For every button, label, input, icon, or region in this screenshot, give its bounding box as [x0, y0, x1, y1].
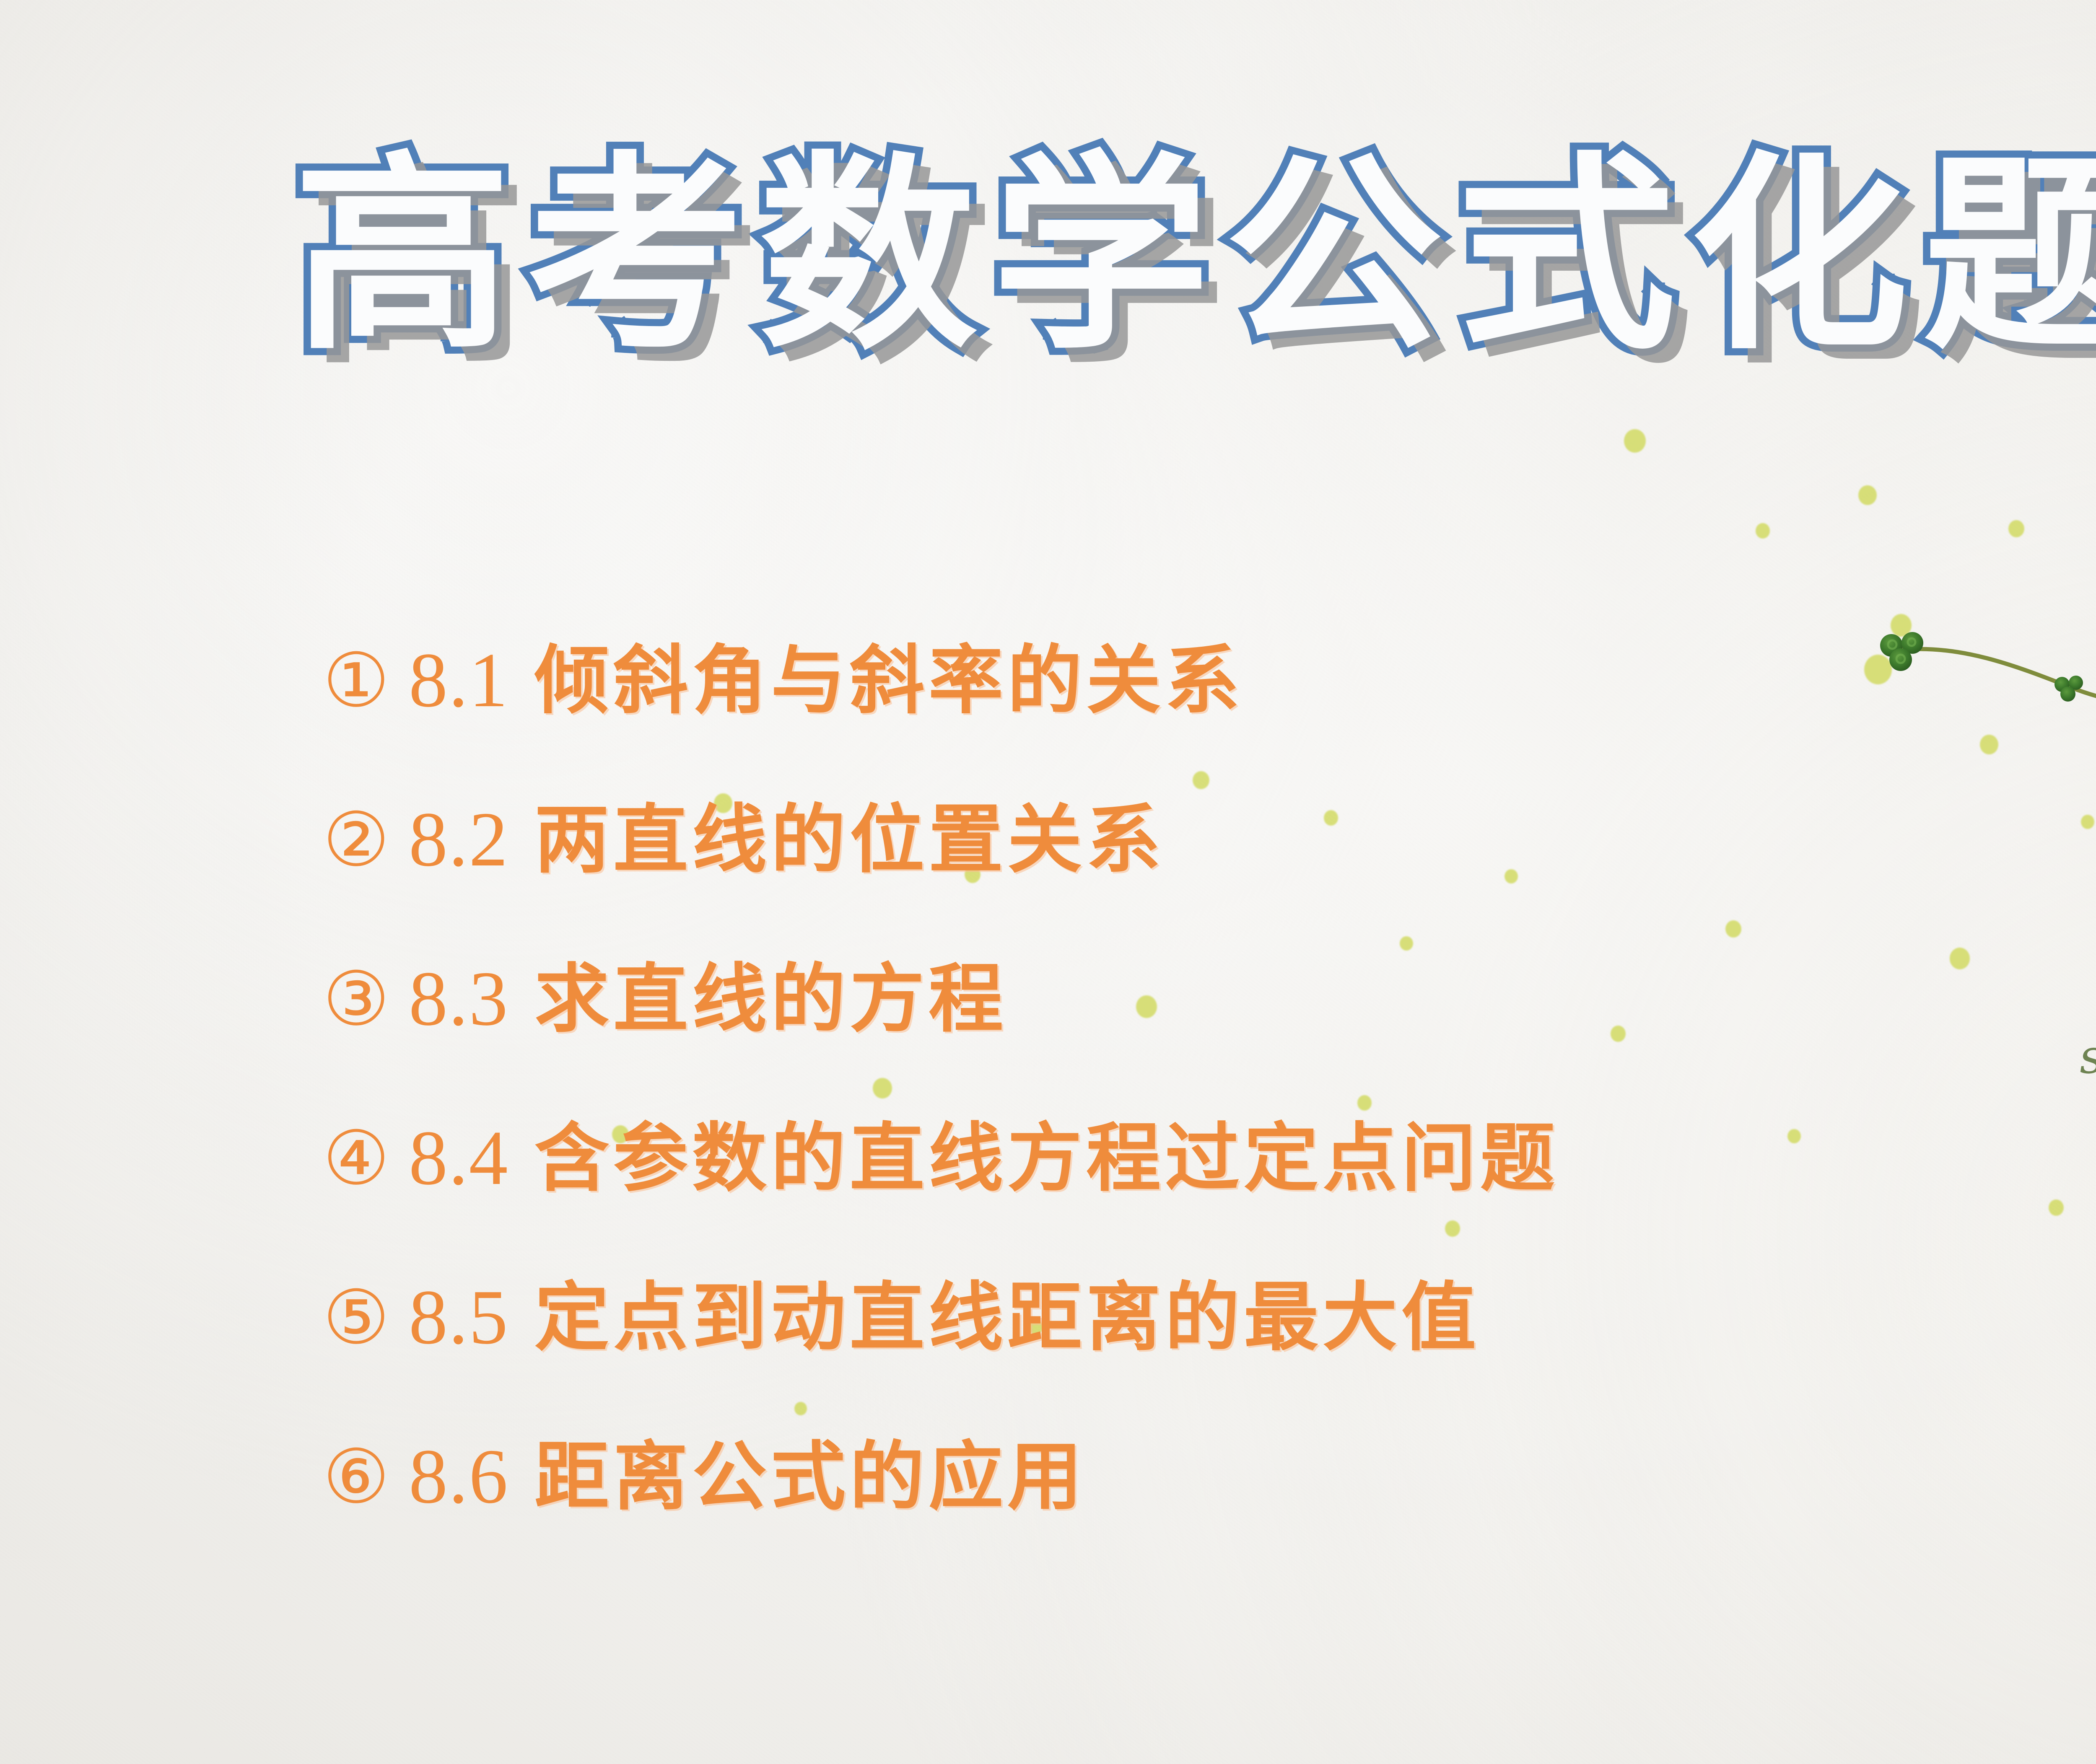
list-marker-icon: ⑤	[323, 1280, 409, 1355]
list-item-label: 两直线的位置关系	[534, 803, 1165, 877]
list-item-number: 8.1	[409, 641, 534, 719]
list-item[interactable]: ⑥ 8.6 距离公式的应用	[323, 1438, 2096, 1597]
list-item[interactable]: ③ 8.3 求直线的方程	[323, 960, 2096, 1119]
list-marker-icon: ⑥	[323, 1440, 409, 1514]
list-item-label: 含参数的直线方程过定点问题	[534, 1121, 1559, 1196]
outline-list: ① 8.1 倾斜角与斜率的关系 ② 8.2 两直线的位置关系 ③ 8.3 求直线…	[323, 641, 2096, 1597]
list-item[interactable]: ② 8.2 两直线的位置关系	[323, 800, 2096, 960]
list-item-number: 8.5	[409, 1278, 534, 1356]
list-marker-icon: ③	[323, 962, 409, 1036]
title-text: 高考数学公式化题型	[293, 126, 2096, 386]
decorative-dot	[1756, 523, 1770, 539]
list-item[interactable]: ① 8.1 倾斜角与斜率的关系	[323, 641, 2096, 800]
list-item-number: 8.2	[409, 800, 534, 878]
slide-title: 高考数学公式化题型	[293, 126, 2096, 411]
list-marker-icon: ①	[323, 643, 409, 718]
list-item-number: 8.4	[409, 1119, 534, 1197]
list-item[interactable]: ④ 8.4 含参数的直线方程过定点问题	[323, 1119, 2096, 1278]
list-item[interactable]: ⑤ 8.5 定点到动直线距离的最大值	[323, 1278, 2096, 1438]
list-item-number: 8.6	[409, 1438, 534, 1515]
decorative-dot	[1624, 429, 1646, 453]
list-marker-icon: ④	[323, 1121, 409, 1196]
list-item-number: 8.3	[409, 960, 534, 1038]
list-item-label: 求直线的方程	[534, 962, 1007, 1036]
slide-canvas: 高考数学公式化题型 ① 8.1 倾斜角与斜率的关系 ② 8.2 两直线的位置关系…	[0, 0, 2096, 1764]
list-item-label: 距离公式的应用	[534, 1440, 1086, 1514]
list-item-label: 倾斜角与斜率的关系	[534, 643, 1244, 718]
list-item-label: 定点到动直线距离的最大值	[534, 1280, 1480, 1355]
list-marker-icon: ②	[323, 803, 409, 877]
